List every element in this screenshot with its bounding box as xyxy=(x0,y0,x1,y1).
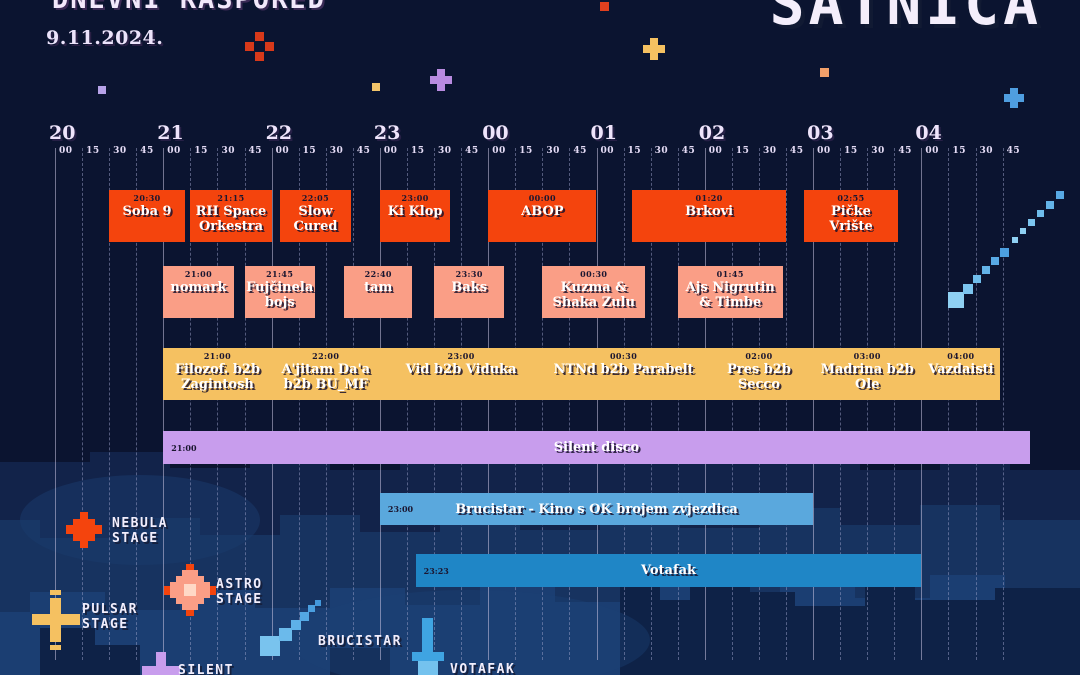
event-block[interactable]: 21:15RH Space Orkestra xyxy=(190,190,271,242)
event-time: 04:00 xyxy=(947,351,974,362)
event-time: 22:40 xyxy=(365,269,392,280)
event-name: Kuzma & Shaka Zulu xyxy=(542,280,645,310)
event-time: 20:30 xyxy=(133,193,160,204)
event-name: Slow Cured xyxy=(280,204,350,234)
legend-votafak-label: VOTAFAK xyxy=(450,662,515,675)
axis-hour-label: 03 xyxy=(807,122,833,144)
legend-votafak xyxy=(408,618,448,675)
event-time: 00:30 xyxy=(610,351,637,362)
axis-hour-label: 21 xyxy=(157,122,183,144)
event-name: Vid b2b Viduka xyxy=(403,362,520,377)
event-name: Brkovi xyxy=(682,204,736,219)
event-time: 21:45 xyxy=(266,269,293,280)
event-name: Silent disco xyxy=(163,440,1029,455)
event-name: Pičke Vrište xyxy=(804,204,897,234)
event-time: 23:30 xyxy=(456,269,483,280)
event-name: NTNd b2b Parabelt xyxy=(550,362,696,377)
event-time: 02:00 xyxy=(745,351,772,362)
event-name: nomark xyxy=(167,280,229,295)
event-block[interactable]: 23:23Votafak xyxy=(416,554,922,587)
axis-hour-label: 22 xyxy=(266,122,292,144)
event-time: 02:55 xyxy=(837,193,864,204)
event-time: 01:20 xyxy=(696,193,723,204)
event-time: 01:45 xyxy=(717,269,744,280)
event-time: 23:23 xyxy=(424,566,449,576)
satnica-title: SATNICA xyxy=(770,0,1042,38)
event-name: RH Space Orkestra xyxy=(190,204,271,234)
event-time: 22:00 xyxy=(312,351,339,362)
stage-row-silent: 21:00Silent disco xyxy=(0,431,1080,464)
event-time: 23:00 xyxy=(388,504,413,514)
event-block[interactable]: 00:30NTNd b2b Parabelt xyxy=(542,348,704,400)
event-name: Brucistar - Kino s OK brojem zvjezdica xyxy=(380,502,813,517)
cross-icon xyxy=(30,590,82,650)
event-time: 21:00 xyxy=(185,269,212,280)
event-block[interactable]: 22:00A'jitam Da'a b2b BU_MF xyxy=(272,348,380,400)
event-block[interactable]: 23:30Baks xyxy=(434,266,504,318)
page-title: DNEVNI RASPORED xyxy=(52,0,326,15)
event-block[interactable]: 21:00Filozof. b2b Zagintosh xyxy=(163,348,271,400)
legend-brucistar-label: BRUCISTAR xyxy=(318,634,402,649)
event-name: Fujčinela bojs xyxy=(245,280,315,310)
event-name: Filozof. b2b Zagintosh xyxy=(163,362,271,392)
axis-hour-label: 00 xyxy=(482,122,508,144)
star-icon xyxy=(162,562,218,618)
event-time: 21:00 xyxy=(204,351,231,362)
event-name: Madrina b2b Ole xyxy=(813,362,921,392)
event-name: Ajs Nigrutin & Timbe xyxy=(678,280,783,310)
header: DNEVNI RASPORED 9.11.2024. SATNICA xyxy=(0,0,1080,120)
legend-nebula-label: NEBULA STAGE xyxy=(112,516,168,546)
legend-nebula xyxy=(62,508,106,556)
event-name: ABOP xyxy=(518,204,566,219)
event-block[interactable]: 21:00Silent disco xyxy=(163,431,1029,464)
axis-hour-label: 02 xyxy=(699,122,725,144)
legend-pulsar xyxy=(30,590,82,654)
event-block[interactable]: 02:55Pičke Vrište xyxy=(804,190,897,242)
event-time: 21:15 xyxy=(217,193,244,204)
event-block[interactable]: 01:20Brkovi xyxy=(632,190,786,242)
event-block[interactable]: 21:00nomark xyxy=(163,266,233,318)
stage-row-nebula: 20:30Soba 921:15RH Space Orkestra22:05Sl… xyxy=(0,190,1080,242)
event-time: 03:00 xyxy=(854,351,881,362)
stage-row-pulsar: 21:00Filozof. b2b Zagintosh22:00A'jitam … xyxy=(0,348,1080,400)
event-block[interactable]: 23:00Vid b2b Viduka xyxy=(380,348,542,400)
legend-pulsar-label: PULSAR STAGE xyxy=(82,602,138,632)
event-block[interactable]: 22:05Slow Cured xyxy=(280,190,350,242)
event-name: Baks xyxy=(448,280,490,295)
event-name: tam xyxy=(361,280,395,295)
event-block[interactable]: 04:00Vazdaisti xyxy=(921,348,1000,400)
event-block[interactable]: 01:45Ajs Nigrutin & Timbe xyxy=(678,266,783,318)
event-time: 23:00 xyxy=(448,351,475,362)
axis-hour-label: 20 xyxy=(49,122,75,144)
event-block[interactable]: 22:40tam xyxy=(344,266,412,318)
event-name: Vazdaisti xyxy=(925,362,996,377)
event-time: 00:30 xyxy=(580,269,607,280)
event-name: Soba 9 xyxy=(119,204,174,219)
event-name: Ki Klop xyxy=(385,204,446,219)
event-time: 23:00 xyxy=(401,193,428,204)
event-time: 21:00 xyxy=(171,443,196,453)
axis-hour-label: 01 xyxy=(591,122,617,144)
event-block[interactable]: 23:00Ki Klop xyxy=(380,190,450,242)
legend-astro-label: ASTRO STAGE xyxy=(216,577,263,607)
event-block[interactable]: 03:00Madrina b2b Ole xyxy=(813,348,921,400)
event-name: Pres b2b Secco xyxy=(705,362,813,392)
event-block[interactable]: 23:00Brucistar - Kino s OK brojem zvjezd… xyxy=(380,493,813,525)
cross-icon xyxy=(140,648,182,675)
star-icon xyxy=(62,508,106,552)
event-block[interactable]: 21:45Fujčinela bojs xyxy=(245,266,315,318)
axis-hour-label: 23 xyxy=(374,122,400,144)
event-block[interactable]: 00:30Kuzma & Shaka Zulu xyxy=(542,266,645,318)
event-date: 9.11.2024. xyxy=(46,27,163,49)
legend-brucistar xyxy=(258,600,328,660)
legend-silent-label: SILENT xyxy=(178,663,234,675)
event-time: 00:00 xyxy=(529,193,556,204)
event-block[interactable]: 20:30Soba 9 xyxy=(109,190,185,242)
rocket-icon xyxy=(408,618,448,675)
legend-astro xyxy=(162,562,218,622)
axis-hour-label: 04 xyxy=(915,122,941,144)
event-name: A'jitam Da'a b2b BU_MF xyxy=(272,362,380,392)
event-block[interactable]: 00:00ABOP xyxy=(488,190,596,242)
event-time: 22:05 xyxy=(302,193,329,204)
event-name: Votafak xyxy=(416,563,922,578)
event-block[interactable]: 02:00Pres b2b Secco xyxy=(705,348,813,400)
stage-row-astro: 21:00nomark21:45Fujčinela bojs22:40tam23… xyxy=(0,266,1080,318)
legend-silent xyxy=(140,648,182,675)
